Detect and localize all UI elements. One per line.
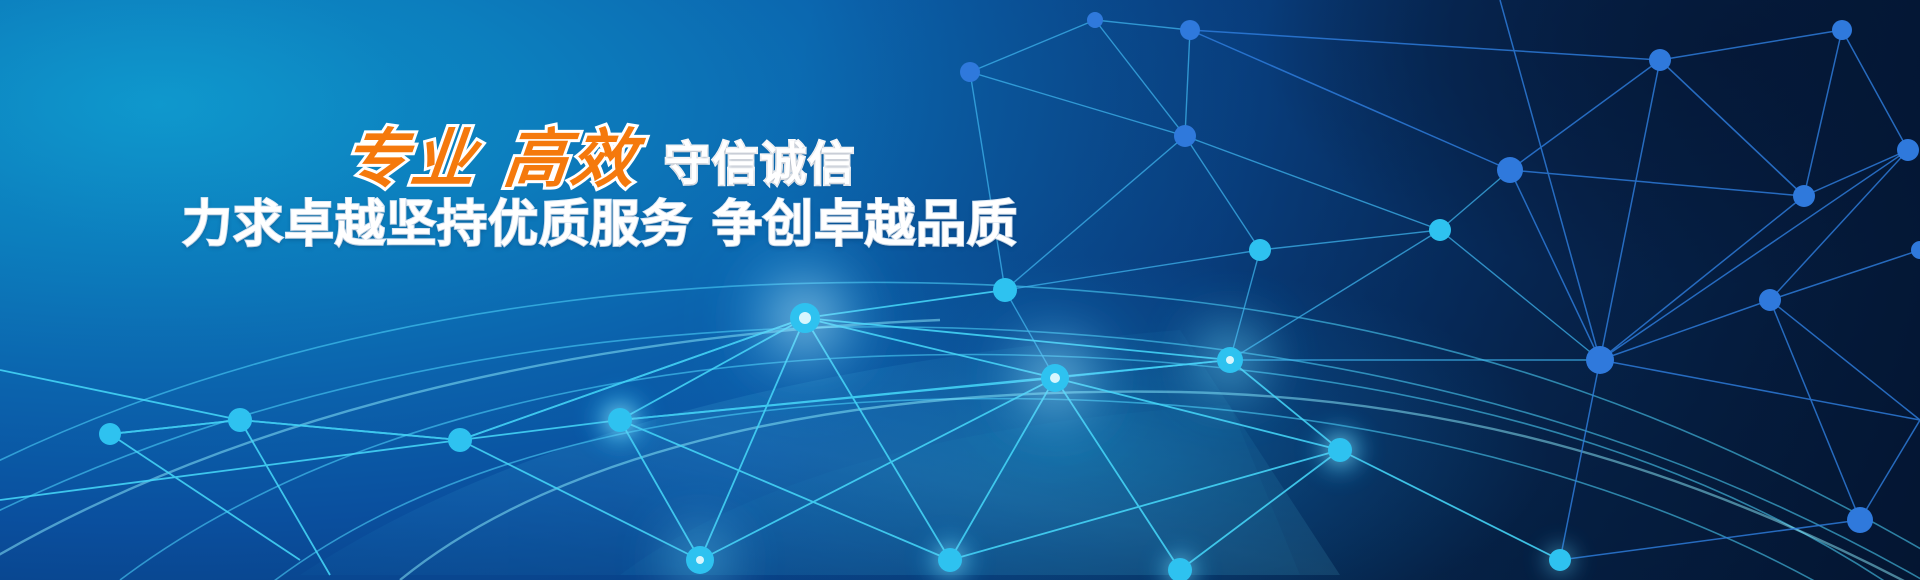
network-lines-right: [1190, 0, 1920, 560]
network-constellation-graphic: [0, 0, 1920, 580]
banner-root: 专业高效 守信诚信 力求卓越坚持优质服务争创卓越品质: [0, 0, 1920, 580]
